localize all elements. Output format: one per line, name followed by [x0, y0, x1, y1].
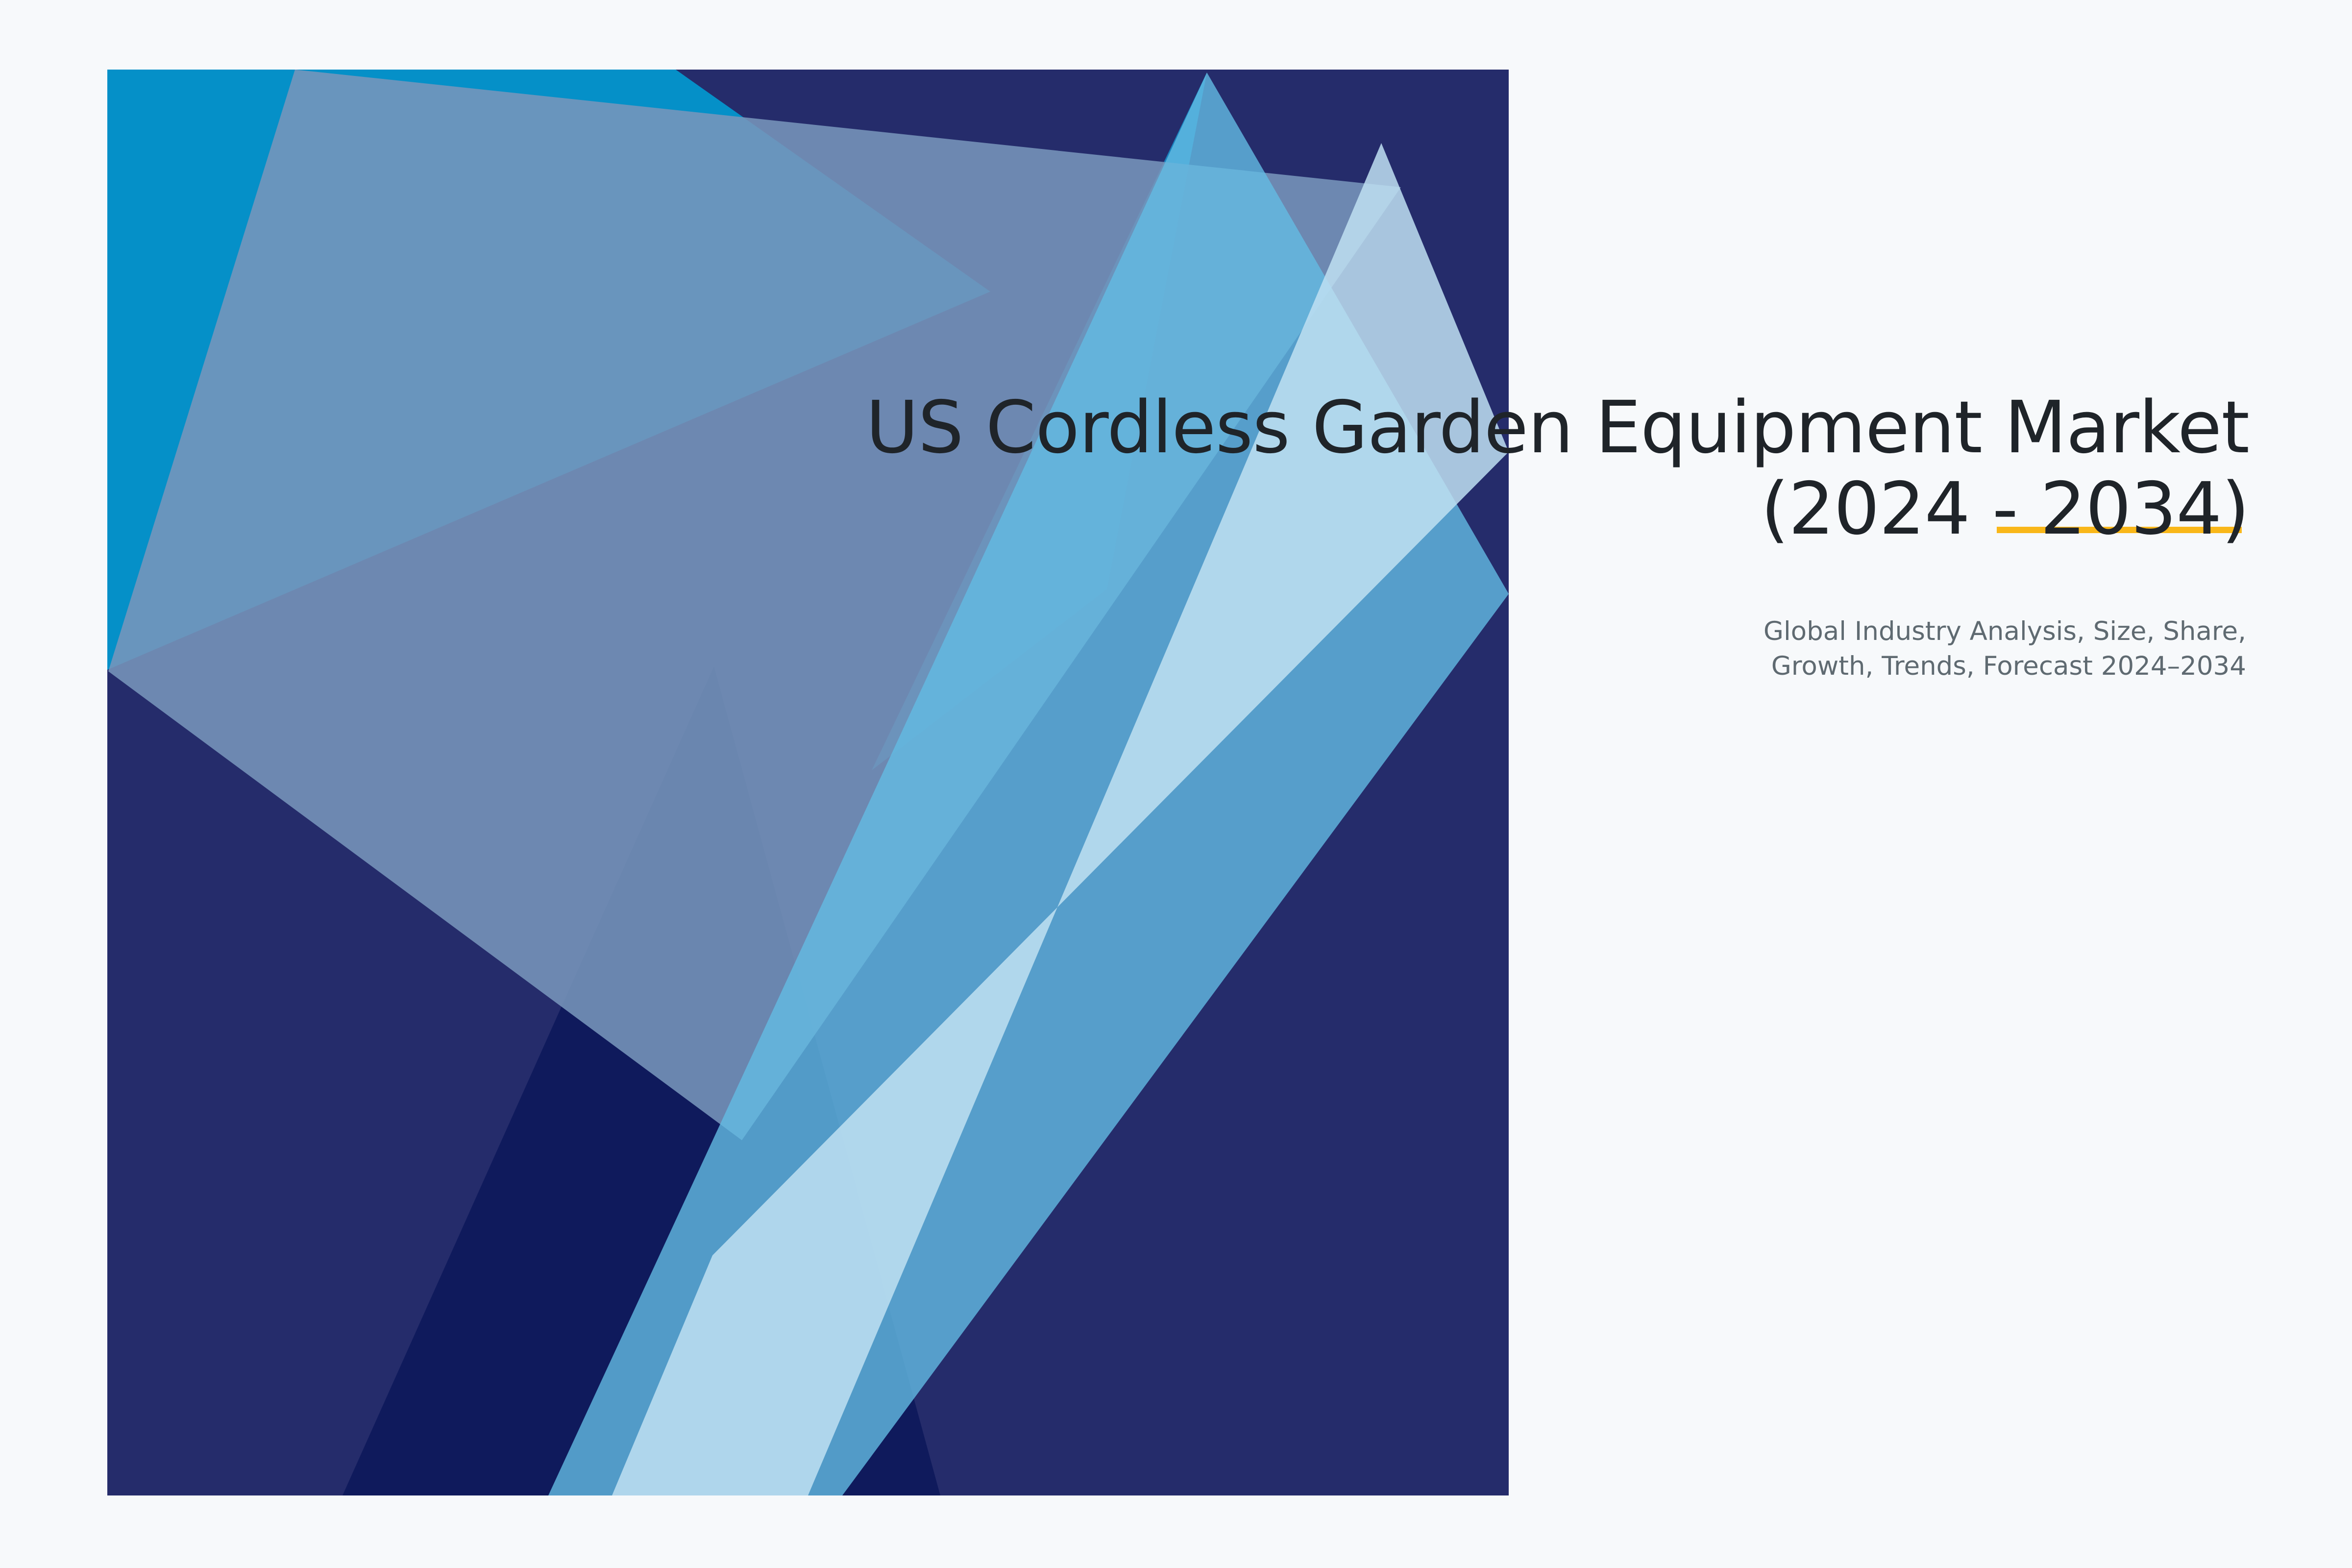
page-title: US Cordless Garden Equipment Market (202…	[735, 387, 2249, 550]
title-line-1: US Cordless Garden Equipment Market	[866, 386, 2249, 469]
title-line-2: (2024 - 2034)	[1761, 467, 2249, 551]
page-subtitle: Global Industry Analysis, Size, Share, G…	[735, 614, 2246, 684]
subtitle-line-1: Global Industry Analysis, Size, Share,	[1764, 616, 2246, 646]
subtitle-line-2: Growth, Trends, Forecast 2024–2034	[1771, 651, 2246, 681]
artwork-svg	[107, 70, 1509, 1495]
cover-artwork	[107, 70, 1509, 1495]
title-line-2-wrapper: (2024 - 2034)	[735, 468, 2249, 550]
cover-page: US Cordless Garden Equipment Market (202…	[0, 0, 2352, 1568]
cover-text-block: US Cordless Garden Equipment Market (202…	[735, 387, 2249, 684]
